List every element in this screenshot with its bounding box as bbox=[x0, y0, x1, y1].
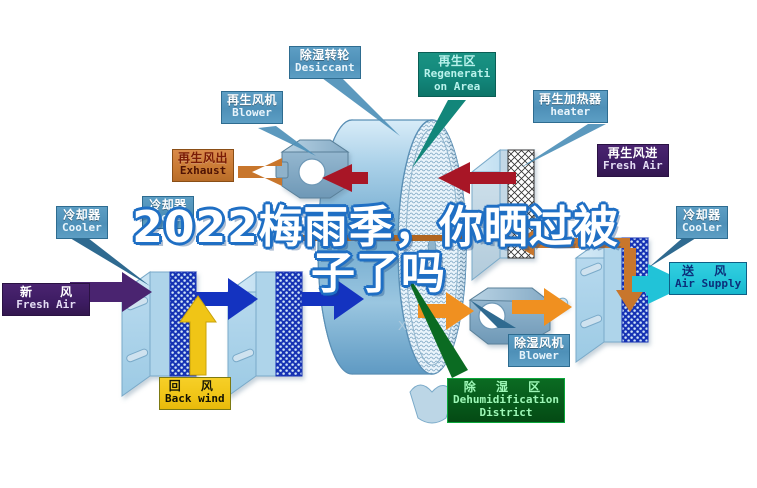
label-dehum-district-en2: District bbox=[453, 407, 559, 419]
regeneration-heater bbox=[472, 150, 534, 280]
label-dehum-district-en1: Dehumidification bbox=[453, 394, 559, 406]
exhaust-arrow bbox=[238, 158, 282, 186]
label-regen-heater[interactable]: 再生加热器 heater bbox=[533, 90, 608, 123]
label-desiccant-en: Desiccant bbox=[295, 62, 355, 74]
label-cooler-right[interactable]: 冷却器 Cooler bbox=[676, 206, 728, 239]
label-cooler-mid-en: Cooler bbox=[148, 212, 188, 224]
label-fresh-air-regen-cn: 再生风进 bbox=[603, 147, 663, 160]
label-dehum-blower-cn: 除湿风机 bbox=[514, 337, 564, 350]
label-regen-heater-cn: 再生加热器 bbox=[539, 93, 602, 106]
label-fresh-air-regen[interactable]: 再生风进 Fresh Air bbox=[597, 144, 669, 177]
label-regeneration-area[interactable]: 再生区 Regenerati on Area bbox=[418, 52, 496, 97]
label-fresh-air[interactable]: 新 风 Fresh Air bbox=[2, 283, 90, 316]
label-regeneration-area-en1: Regenerati bbox=[424, 68, 490, 80]
label-dehumidification-district[interactable]: 除 湿 区 Dehumidification District bbox=[447, 378, 565, 423]
label-desiccant-cn: 除湿转轮 bbox=[295, 49, 355, 62]
label-regen-heater-en: heater bbox=[539, 106, 602, 118]
label-cooler-right-en: Cooler bbox=[682, 222, 722, 234]
label-regen-blower[interactable]: 再生风机 Blower bbox=[221, 91, 283, 124]
label-regen-blower-cn: 再生风机 bbox=[227, 94, 277, 107]
label-exhaust-cn: 再生风出 bbox=[178, 152, 228, 165]
label-cooler-mid[interactable]: 冷却器 Cooler bbox=[142, 196, 194, 229]
regeneration-blower bbox=[276, 140, 348, 198]
label-air-supply[interactable]: 送 风 Air Supply bbox=[669, 262, 747, 295]
label-dehum-blower-en: Blower bbox=[514, 350, 564, 362]
label-air-supply-en: Air Supply bbox=[675, 278, 741, 290]
label-dehum-blower[interactable]: 除湿风机 Blower bbox=[508, 334, 570, 367]
label-cooler-mid-cn: 冷却器 bbox=[148, 199, 188, 212]
label-cooler-right-cn: 冷却器 bbox=[682, 209, 722, 222]
label-fresh-air-regen-en: Fresh Air bbox=[603, 160, 663, 172]
rotor-watermark: XI bbox=[398, 318, 410, 333]
label-back-wind-cn: 回 风 bbox=[165, 380, 225, 393]
label-fresh-air-cn: 新 风 bbox=[8, 286, 84, 299]
diagram-canvas: XI bbox=[0, 0, 757, 488]
label-cooler-left[interactable]: 冷却器 Cooler bbox=[56, 206, 108, 239]
label-air-supply-cn: 送 风 bbox=[675, 265, 741, 278]
label-fresh-air-en: Fresh Air bbox=[8, 299, 84, 311]
label-cooler-left-cn: 冷却器 bbox=[62, 209, 102, 222]
label-back-wind-en: Back wind bbox=[165, 393, 225, 405]
label-exhaust[interactable]: 再生风出 Exhaust bbox=[172, 149, 234, 182]
label-desiccant[interactable]: 除湿转轮 Desiccant bbox=[289, 46, 361, 79]
label-regen-blower-en: Blower bbox=[227, 107, 277, 119]
label-back-wind[interactable]: 回 风 Back wind bbox=[159, 377, 231, 410]
label-regeneration-area-cn: 再生区 bbox=[424, 55, 490, 68]
schematic-illustration: XI bbox=[0, 0, 757, 488]
label-regeneration-area-en2: on Area bbox=[424, 81, 490, 93]
label-cooler-left-en: Cooler bbox=[62, 222, 102, 234]
label-exhaust-en: Exhaust bbox=[178, 165, 228, 177]
label-dehum-district-cn: 除 湿 区 bbox=[453, 381, 559, 394]
regen-duct-line bbox=[300, 235, 470, 241]
